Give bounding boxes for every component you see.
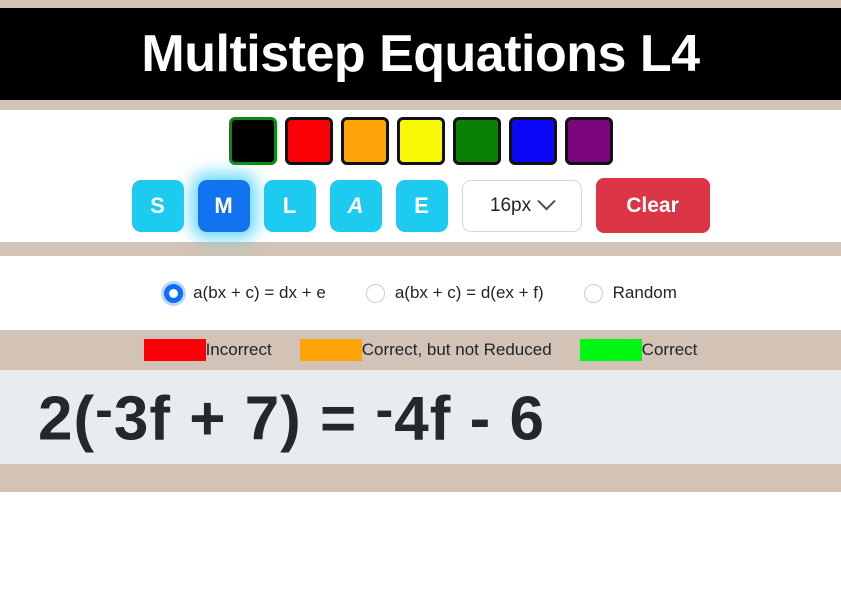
page-title: Multistep Equations L4	[141, 28, 699, 80]
toolbar-control-row: S M L A E 16px Clear	[0, 178, 841, 233]
style-button-eraser[interactable]: E	[396, 180, 448, 232]
radio-label-abxc-dxe: a(bx + c) = dx + e	[193, 283, 326, 303]
legend-label-correct: Correct	[642, 340, 698, 360]
style-button-large[interactable]: L	[264, 180, 316, 232]
color-swatch-blue[interactable]	[509, 117, 557, 165]
strip-under-equation	[0, 464, 841, 492]
radio-icon-unselected-1[interactable]	[366, 284, 385, 303]
radio-option-abxc-dexf[interactable]: a(bx + c) = d(ex + f)	[366, 283, 544, 303]
equation-display-panel: 2(-3f + 7) = -4f - 6	[0, 370, 841, 464]
equation-segment: 3f + 7) =	[114, 384, 376, 453]
strip-under-toolbar	[0, 242, 841, 256]
equation-segment: 4f - 6	[394, 384, 545, 453]
color-swatch-black[interactable]	[229, 117, 277, 165]
style-button-italic[interactable]: A	[330, 180, 382, 232]
status-legend: Incorrect Correct, but not Reduced Corre…	[0, 330, 841, 370]
color-swatch-row	[0, 117, 841, 165]
font-size-select[interactable]: 16px	[462, 180, 582, 232]
radio-label-random: Random	[613, 283, 677, 303]
radio-option-abxc-dxe[interactable]: a(bx + c) = dx + e	[164, 283, 326, 303]
legend-item-incorrect: Incorrect	[144, 339, 272, 361]
drawing-toolbar: S M L A E 16px Clear	[0, 110, 841, 242]
radio-option-random[interactable]: Random	[584, 283, 677, 303]
legend-label-incorrect: Incorrect	[206, 340, 272, 360]
negative-sign: -	[95, 381, 114, 440]
color-swatch-green[interactable]	[453, 117, 501, 165]
equation-type-radio-group: a(bx + c) = dx + e a(bx + c) = d(ex + f)…	[0, 256, 841, 330]
color-swatch-yellow[interactable]	[397, 117, 445, 165]
color-swatch-purple[interactable]	[565, 117, 613, 165]
equation-text: 2(-3f + 7) = -4f - 6	[38, 384, 545, 451]
color-swatch-red[interactable]	[285, 117, 333, 165]
color-swatch-orange[interactable]	[341, 117, 389, 165]
clear-button[interactable]: Clear	[596, 178, 710, 233]
style-button-medium[interactable]: M	[198, 180, 250, 232]
radio-icon-selected[interactable]	[164, 284, 183, 303]
legend-item-not-reduced: Correct, but not Reduced	[300, 339, 552, 361]
radio-label-abxc-dexf: a(bx + c) = d(ex + f)	[395, 283, 544, 303]
legend-item-correct: Correct	[580, 339, 698, 361]
legend-chip-correct	[580, 339, 642, 361]
legend-chip-incorrect	[144, 339, 206, 361]
work-canvas[interactable]	[0, 492, 841, 558]
app-root: Multistep Equations L4 S M L A E 16px Cl…	[0, 0, 841, 600]
title-bar: Multistep Equations L4	[0, 8, 841, 100]
legend-chip-not-reduced	[300, 339, 362, 361]
negative-sign: -	[375, 381, 394, 440]
equation-segment: 2(	[38, 384, 95, 453]
style-button-small[interactable]: S	[132, 180, 184, 232]
top-page-strip	[0, 0, 841, 8]
legend-label-not-reduced: Correct, but not Reduced	[362, 340, 552, 360]
font-size-value: 16px	[490, 195, 531, 217]
strip-under-title	[0, 100, 841, 110]
radio-icon-unselected-2[interactable]	[584, 284, 603, 303]
chevron-down-icon	[537, 192, 555, 210]
